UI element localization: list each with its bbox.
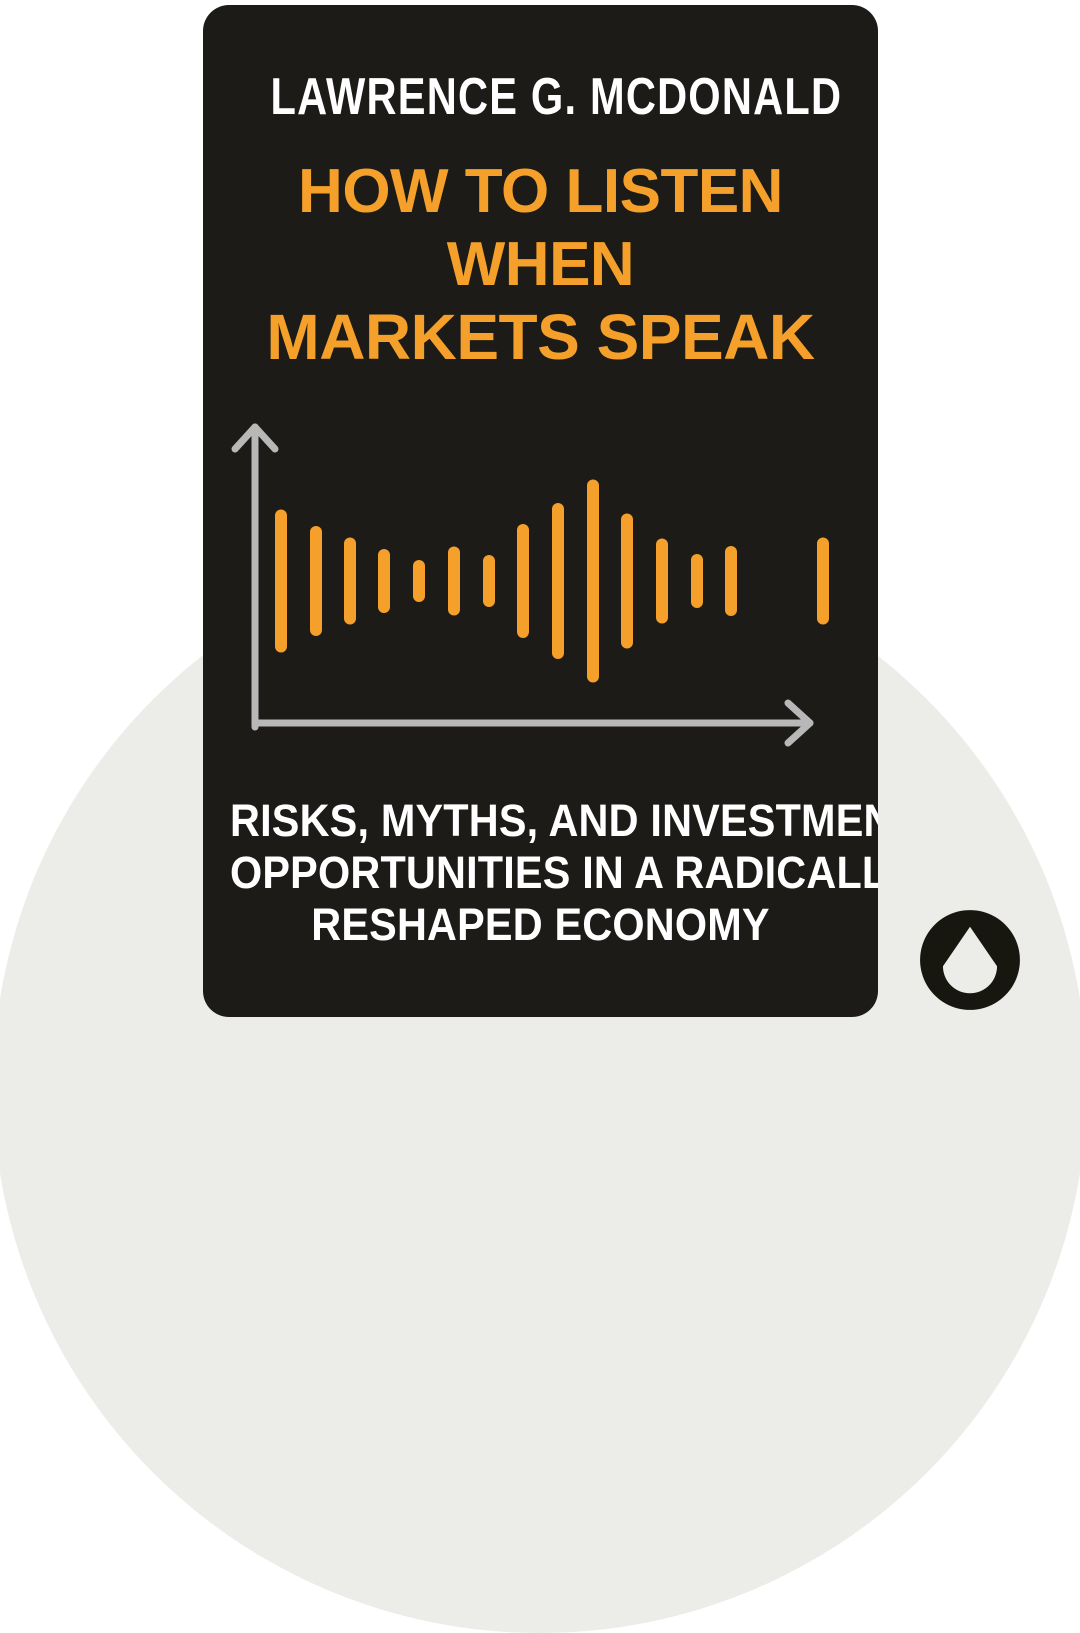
waveform-bars xyxy=(281,486,823,677)
author-name: LAWRENCE G. MCDONALD xyxy=(271,67,811,127)
subtitle-line-3: RESHAPED ECONOMY xyxy=(230,899,851,951)
blinkist-logo-icon[interactable] xyxy=(918,908,1022,1012)
title-line-1: HOW TO LISTEN xyxy=(203,155,878,228)
waveform-chart xyxy=(203,405,878,755)
subtitle-line-2: OPPORTUNITIES IN A RADICALLY xyxy=(230,847,851,899)
book-cover-card[interactable]: LAWRENCE G. MCDONALD HOW TO LISTEN WHEN … xyxy=(203,5,878,1017)
screenshot-root: LAWRENCE G. MCDONALD HOW TO LISTEN WHEN … xyxy=(0,0,1080,1080)
title-line-2: WHEN xyxy=(203,228,878,301)
subtitle-line-1: RISKS, MYTHS, AND INVESTMENT xyxy=(230,795,851,847)
book-subtitle: RISKS, MYTHS, AND INVESTMENT OPPORTUNITI… xyxy=(203,795,878,951)
blinkist-logo-shape xyxy=(920,910,1020,1010)
book-title: HOW TO LISTEN WHEN MARKETS SPEAK xyxy=(203,155,878,374)
title-line-3: MARKETS SPEAK xyxy=(203,301,878,374)
